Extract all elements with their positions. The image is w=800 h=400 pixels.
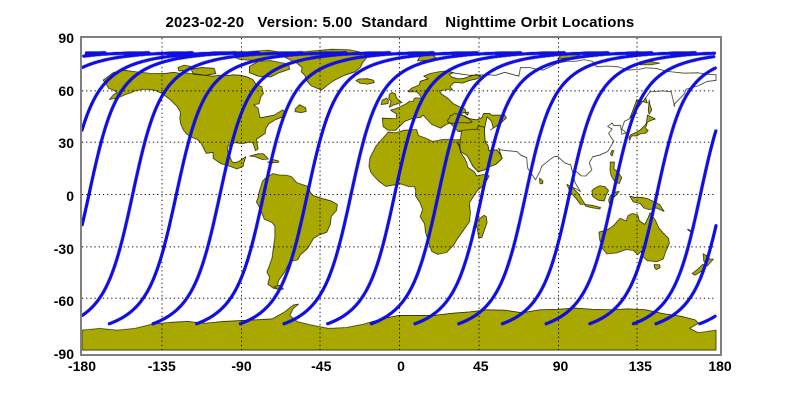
y-tick-60: 60: [0, 84, 74, 98]
y-tick-neg30: -30: [0, 242, 74, 256]
world-map-canvas: [82, 38, 720, 354]
y-tick-0: 0: [0, 189, 74, 203]
y-tick-label: 0: [4, 189, 74, 203]
x-tick-135: 135: [600, 358, 680, 374]
x-tick-0: 0: [361, 358, 441, 374]
y-tick-label: 90: [4, 31, 74, 45]
y-tick-label: 60: [4, 84, 74, 98]
y-tick-neg60: -60: [0, 294, 74, 308]
x-tick-neg45: -45: [281, 358, 361, 374]
x-tick-label: -180: [42, 358, 122, 374]
y-tick-90: 90: [0, 31, 74, 45]
y-tick-label: -30: [4, 242, 74, 256]
x-tick-neg135: -135: [122, 358, 202, 374]
page-title: 2023-02-20 Version: 5.00 Standard Nightt…: [0, 14, 800, 31]
x-tick-label: 90: [521, 358, 601, 374]
x-tick-label: -135: [122, 358, 202, 374]
x-tick-neg180: -180: [42, 358, 122, 374]
x-tick-neg90: -90: [202, 358, 282, 374]
x-tick-label: 0: [361, 358, 441, 374]
x-tick-45: 45: [441, 358, 521, 374]
x-tick-label: 180: [680, 358, 760, 374]
x-tick-180: 180: [680, 358, 760, 374]
map-plot-area: [80, 36, 722, 356]
x-tick-90: 90: [521, 358, 601, 374]
y-tick-label: -60: [4, 294, 74, 308]
x-tick-label: -45: [281, 358, 361, 374]
x-tick-label: -90: [202, 358, 282, 374]
y-tick-30: 30: [0, 136, 74, 150]
x-tick-label: 135: [600, 358, 680, 374]
x-tick-label: 45: [441, 358, 521, 374]
y-tick-label: 30: [4, 136, 74, 150]
orbit-map-figure: 2023-02-20 Version: 5.00 Standard Nightt…: [0, 0, 800, 400]
